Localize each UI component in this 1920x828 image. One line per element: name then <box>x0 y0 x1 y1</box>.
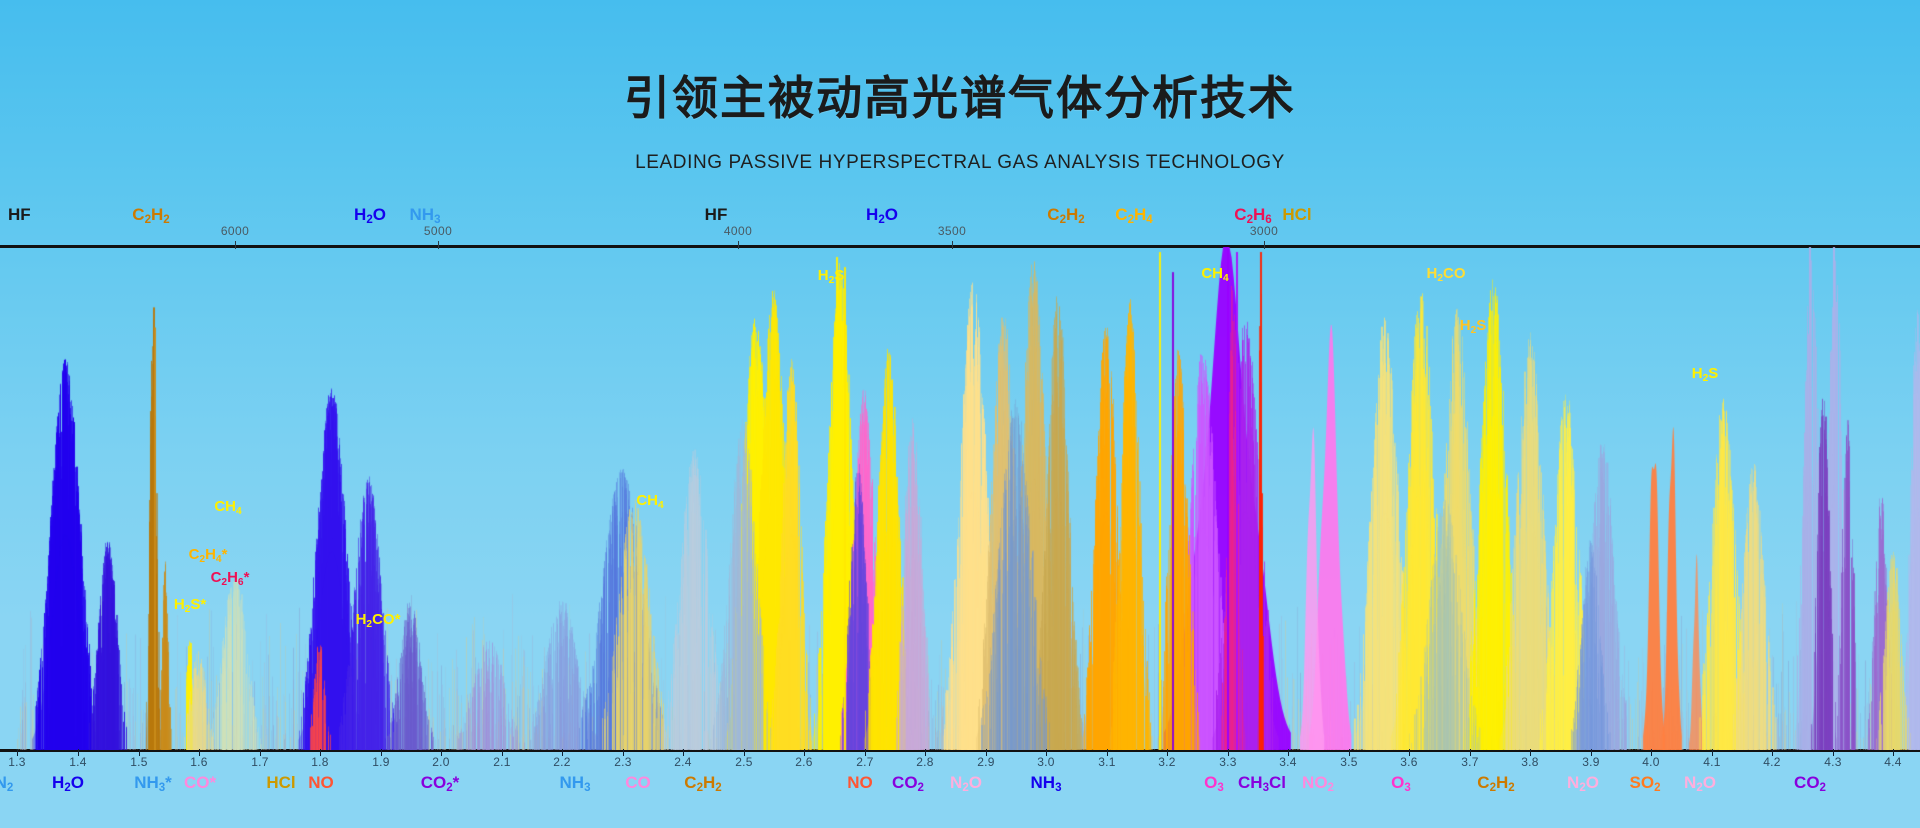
bottom-tick-mark <box>1591 749 1592 756</box>
bottom-tick-label: 1.9 <box>372 755 390 769</box>
inplot-gas-label: H2S <box>818 267 845 284</box>
bottom-gas-label: CH3Cl <box>1238 773 1286 793</box>
bottom-gas-label: N2 <box>0 773 13 793</box>
bottom-tick-label: 2.2 <box>553 755 571 769</box>
bottom-tick-label: 1.5 <box>130 755 148 769</box>
spectrum-canvas <box>0 247 1920 750</box>
inplot-gas-label: C2H6* <box>211 569 250 586</box>
bottom-tick-label: 1.6 <box>190 755 208 769</box>
bottom-tick-mark <box>1228 749 1229 756</box>
inplot-gas-label: C2H4* <box>189 546 228 563</box>
bottom-tick-mark <box>925 749 926 756</box>
bottom-tick-mark <box>1893 749 1894 756</box>
bottom-tick-label: 4.1 <box>1703 755 1721 769</box>
top-gas-label: NH3 <box>410 205 441 225</box>
bottom-tick-mark <box>1470 749 1471 756</box>
page-title: 引领主被动高光谱气体分析技术 <box>0 62 1920 128</box>
top-tick-mark <box>1264 241 1265 249</box>
bottom-tick-label: 2.7 <box>856 755 874 769</box>
inplot-gas-label: H2CO <box>1426 265 1465 282</box>
inplot-gas-label: H2S <box>1692 365 1719 382</box>
page-subtitle: LEADING PASSIVE HYPERSPECTRAL GAS ANALYS… <box>0 152 1920 174</box>
top-tick-label: 5000 <box>424 224 452 238</box>
bottom-gas-label: O3 <box>1204 773 1224 793</box>
bottom-tick-mark <box>139 749 140 756</box>
bottom-tick-mark <box>744 749 745 756</box>
bottom-gas-label: CO2 <box>1794 773 1826 793</box>
bottom-tick-label: 3.5 <box>1340 755 1358 769</box>
bottom-gas-label: N2O <box>1567 773 1599 793</box>
bottom-tick-label: 3.8 <box>1521 755 1539 769</box>
bottom-tick-label: 2.5 <box>735 755 753 769</box>
top-gas-label: C2H2 <box>1047 205 1084 225</box>
bottom-gas-label: O3 <box>1391 773 1411 793</box>
bottom-gas-label: CO2 <box>892 773 924 793</box>
inplot-gas-label: CH4 <box>636 492 663 509</box>
bottom-tick-label: 3.4 <box>1279 755 1297 769</box>
bottom-tick-mark <box>1772 749 1773 756</box>
inplot-gas-label: CH4 <box>214 498 241 515</box>
bottom-gas-label: HCl <box>266 773 295 793</box>
top-tick-label: 3000 <box>1250 224 1278 238</box>
bottom-gas-label: NH3* <box>134 773 172 793</box>
bottom-gas-label: CO* <box>184 773 216 793</box>
bottom-tick-mark <box>260 749 261 756</box>
bottom-tick-mark <box>623 749 624 756</box>
bottom-gas-label: SO2 <box>1630 773 1661 793</box>
top-tick-mark <box>738 241 739 249</box>
poster-root: 引领主被动高光谱气体分析技术 LEADING PASSIVE HYPERSPEC… <box>0 0 1920 828</box>
bottom-tick-mark <box>1530 749 1531 756</box>
top-tick-mark <box>438 241 439 249</box>
bottom-tick-label: 4.2 <box>1763 755 1781 769</box>
bottom-tick-label: 3.3 <box>1219 755 1237 769</box>
bottom-tick-mark <box>1651 749 1652 756</box>
bottom-tick-label: 2.8 <box>916 755 934 769</box>
bottom-tick-label: 1.7 <box>251 755 269 769</box>
bottom-tick-mark <box>381 749 382 756</box>
bottom-tick-mark <box>17 749 18 756</box>
top-gas-label: HF <box>8 205 31 225</box>
top-tick-label: 3500 <box>938 224 966 238</box>
bottom-gas-label: C2H2 <box>1477 773 1514 793</box>
bottom-tick-mark <box>865 749 866 756</box>
bottom-tick-label: 3.9 <box>1582 755 1600 769</box>
inplot-gas-label: H2S* <box>174 596 206 613</box>
bottom-gas-label: NO2 <box>1302 773 1334 793</box>
bottom-tick-label: 3.6 <box>1400 755 1418 769</box>
bottom-tick-label: 4.4 <box>1884 755 1902 769</box>
bottom-tick-mark <box>1712 749 1713 756</box>
top-gas-label: H2O <box>866 205 898 225</box>
top-gas-label: C2H2 <box>132 205 169 225</box>
bottom-tick-mark <box>199 749 200 756</box>
bottom-tick-label: 1.4 <box>69 755 87 769</box>
bottom-tick-label: 3.1 <box>1098 755 1116 769</box>
bottom-tick-label: 3.2 <box>1158 755 1176 769</box>
bottom-tick-label: 4.0 <box>1642 755 1660 769</box>
bottom-tick-mark <box>1349 749 1350 756</box>
inplot-gas-label: H2S <box>1460 317 1487 334</box>
inplot-gas-label: CH4 <box>1201 265 1228 282</box>
bottom-tick-mark <box>320 749 321 756</box>
bottom-tick-label: 2.9 <box>977 755 995 769</box>
bottom-gas-label: N2O <box>950 773 982 793</box>
bottom-gas-label: NH3 <box>560 773 591 793</box>
top-tick-mark <box>952 241 953 249</box>
bottom-tick-mark <box>1046 749 1047 756</box>
bottom-tick-label: 2.4 <box>674 755 692 769</box>
bottom-tick-label: 1.8 <box>311 755 329 769</box>
bottom-gas-label: C2H2 <box>684 773 721 793</box>
top-tick-mark <box>235 241 236 249</box>
bottom-tick-mark <box>1107 749 1108 756</box>
poster-header: 引领主被动高光谱气体分析技术 LEADING PASSIVE HYPERSPEC… <box>0 0 1920 200</box>
bottom-tick-mark <box>986 749 987 756</box>
bottom-tick-label: 2.1 <box>493 755 511 769</box>
bottom-gas-label: NH3 <box>1031 773 1062 793</box>
bottom-tick-label: 4.3 <box>1824 755 1842 769</box>
bottom-tick-mark <box>1167 749 1168 756</box>
bottom-tick-label: 3.0 <box>1037 755 1055 769</box>
top-tick-label: 6000 <box>221 224 249 238</box>
bottom-gas-label: N2O <box>1684 773 1716 793</box>
bottom-tick-label: 2.6 <box>795 755 813 769</box>
bottom-tick-mark <box>441 749 442 756</box>
bottom-tick-label: 1.3 <box>8 755 26 769</box>
bottom-tick-label: 2.0 <box>432 755 450 769</box>
top-gas-label: H2O <box>354 205 386 225</box>
top-gas-label: HF <box>705 205 728 225</box>
bottom-gas-label: CO <box>625 773 651 793</box>
top-gas-label: C2H6 <box>1234 205 1271 225</box>
bottom-tick-mark <box>502 749 503 756</box>
bottom-tick-mark <box>1409 749 1410 756</box>
top-gas-label: C2H4 <box>1115 205 1152 225</box>
top-tick-label: 4000 <box>724 224 752 238</box>
bottom-tick-mark <box>562 749 563 756</box>
bottom-tick-mark <box>804 749 805 756</box>
bottom-gas-label: NO <box>847 773 873 793</box>
bottom-tick-mark <box>683 749 684 756</box>
spectrum-plot <box>0 247 1920 750</box>
top-gas-label: HCl <box>1282 205 1311 225</box>
bottom-tick-label: 3.7 <box>1461 755 1479 769</box>
inplot-gas-label: H2CO* <box>356 611 401 628</box>
bottom-gas-label: NO <box>308 773 334 793</box>
bottom-tick-mark <box>1833 749 1834 756</box>
bottom-tick-mark <box>1288 749 1289 756</box>
bottom-tick-mark <box>78 749 79 756</box>
bottom-gas-label: H2O <box>52 773 84 793</box>
bottom-gas-label: CO2* <box>421 773 460 793</box>
bottom-tick-label: 2.3 <box>614 755 632 769</box>
